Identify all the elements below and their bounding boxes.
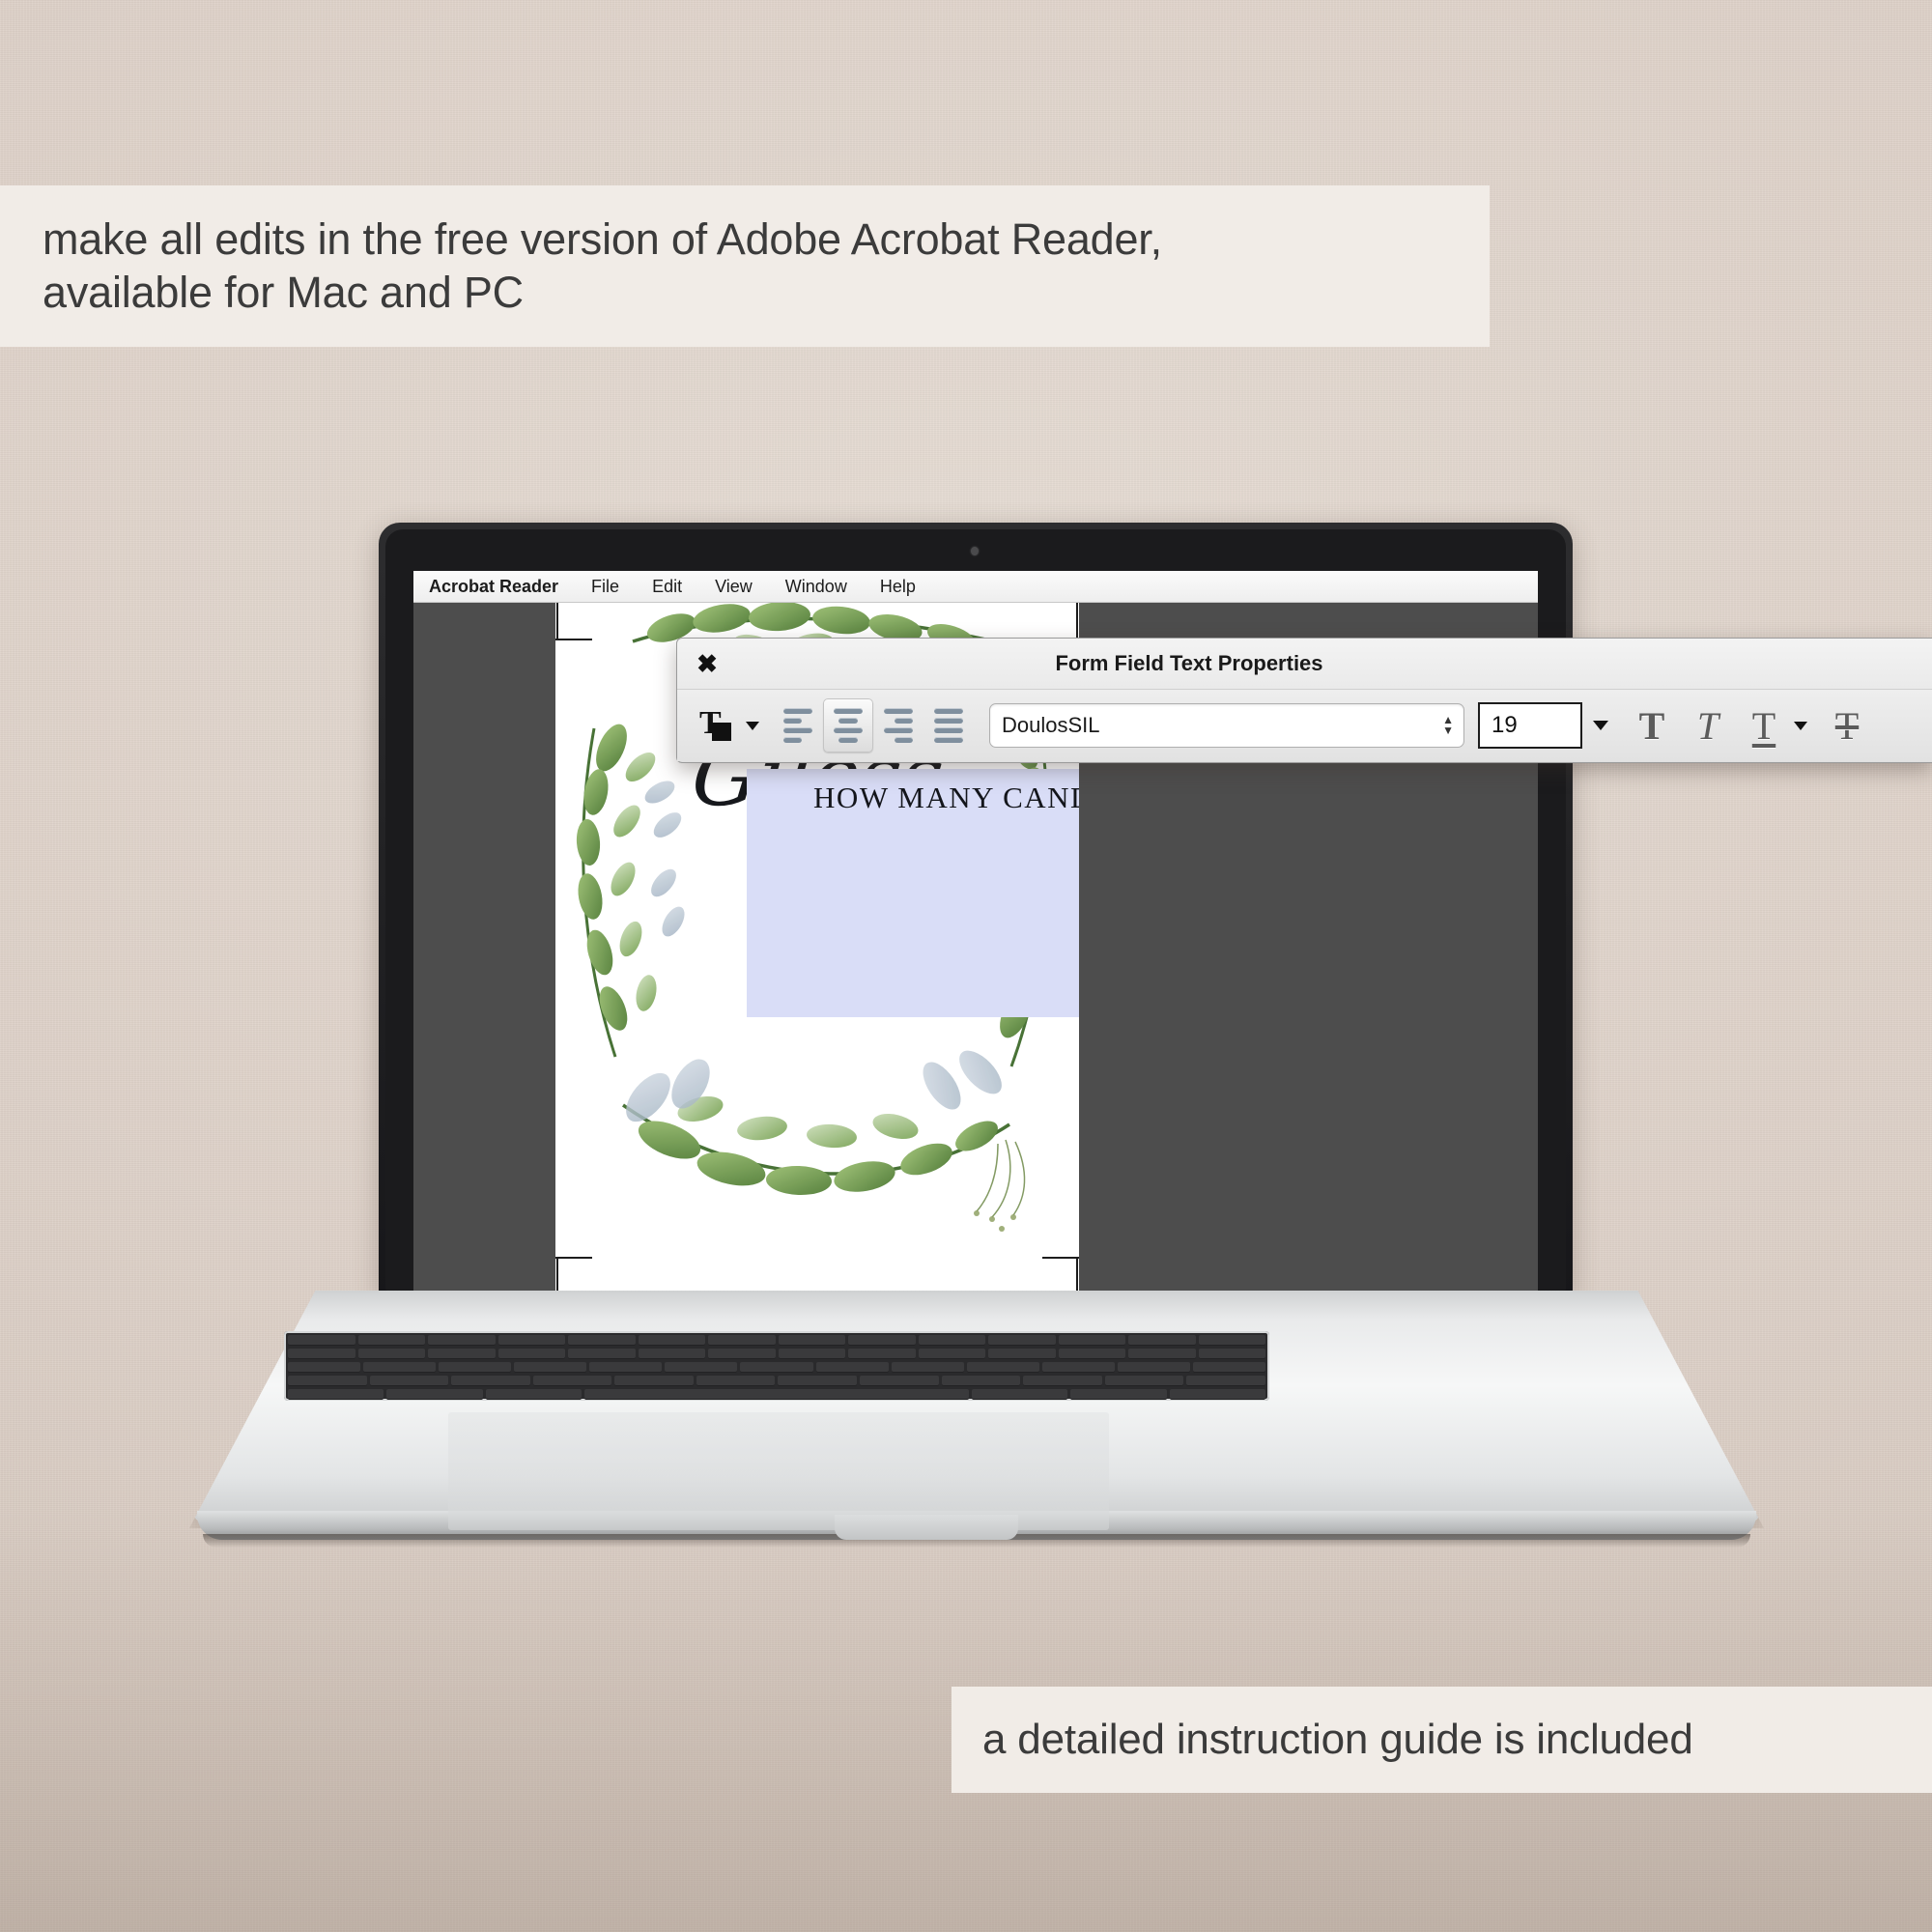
- crop-mark-bottom-right-h: [1042, 1257, 1079, 1259]
- form-field-text-properties-dialog: ✖ Form Field Text Properties T: [676, 638, 1932, 763]
- align-right-button[interactable]: [873, 698, 923, 753]
- caption-top-line-1: make all edits in the free version of Ad…: [43, 213, 1162, 267]
- underline-chevron-down-icon[interactable]: [1794, 722, 1807, 730]
- font-family-stepper-icon[interactable]: ▲ ▼: [1442, 716, 1454, 735]
- crop-mark-bottom-left-h: [555, 1257, 592, 1259]
- menu-item-file[interactable]: File: [575, 571, 636, 603]
- text-color-icon: T: [699, 710, 732, 741]
- text-color-chevron-down-icon[interactable]: [746, 722, 759, 730]
- menu-item-acrobat-reader[interactable]: Acrobat Reader: [427, 571, 575, 603]
- underline-button[interactable]: T: [1736, 698, 1792, 753]
- crop-mark-top-right-v: [1076, 603, 1078, 639]
- laptop-trackpad: [448, 1412, 1109, 1530]
- text-color-button[interactable]: T: [691, 698, 741, 753]
- menu-item-edit[interactable]: Edit: [636, 571, 698, 603]
- caption-banner-bottom: a detailed instruction guide is included: [952, 1687, 1932, 1793]
- menu-item-window[interactable]: Window: [769, 571, 864, 603]
- laptop-keyboard: [284, 1331, 1269, 1401]
- font-family-value: DoulosSIL: [1002, 713, 1100, 738]
- text-color-swatch: [712, 723, 731, 741]
- form-field-value: HOW MANY CANDIES: [747, 781, 1079, 815]
- align-justify-button[interactable]: [923, 698, 974, 753]
- caption-top-line-2: available for Mac and PC: [43, 267, 524, 320]
- stepper-down-icon: ▼: [1442, 726, 1454, 735]
- close-icon[interactable]: ✖: [695, 651, 720, 676]
- caption-banner-top: make all edits in the free version of Ad…: [0, 185, 1490, 347]
- align-justify-icon: [934, 708, 963, 743]
- crop-mark-top-left-v: [556, 603, 558, 639]
- crop-mark-top-left-h: [555, 639, 592, 640]
- align-right-icon: [884, 708, 913, 743]
- align-center-icon: [834, 708, 863, 743]
- caption-bottom-text: a detailed instruction guide is included: [982, 1716, 1693, 1764]
- dialog-toolbar: T DoulosSIL: [677, 689, 1932, 761]
- crop-mark-bottom-left-v: [556, 1258, 558, 1294]
- font-size-chevron-down-icon[interactable]: [1593, 721, 1608, 730]
- italic-button[interactable]: T: [1680, 698, 1736, 753]
- font-family-select[interactable]: DoulosSIL ▲ ▼: [989, 703, 1464, 748]
- laptop-lid-notch: [835, 1515, 1018, 1540]
- strikethrough-button[interactable]: T: [1819, 698, 1875, 753]
- form-field-highlight[interactable]: HOW MANY CANDIES: [747, 769, 1079, 1017]
- align-left-icon: [783, 708, 812, 743]
- menubar: Acrobat Reader File Edit View Window Hel…: [413, 571, 1538, 603]
- dialog-titlebar[interactable]: ✖ Form Field Text Properties: [677, 639, 1932, 689]
- crop-mark-bottom-right-v: [1076, 1258, 1078, 1294]
- font-size-input[interactable]: 19: [1478, 702, 1582, 749]
- webcam-icon: [971, 547, 979, 555]
- menu-item-view[interactable]: View: [698, 571, 769, 603]
- align-center-button[interactable]: [823, 698, 873, 753]
- dialog-title: Form Field Text Properties: [677, 651, 1932, 676]
- align-left-button[interactable]: [773, 698, 823, 753]
- bold-button[interactable]: T: [1624, 698, 1680, 753]
- font-size-value: 19: [1492, 712, 1518, 739]
- menu-item-help[interactable]: Help: [864, 571, 932, 603]
